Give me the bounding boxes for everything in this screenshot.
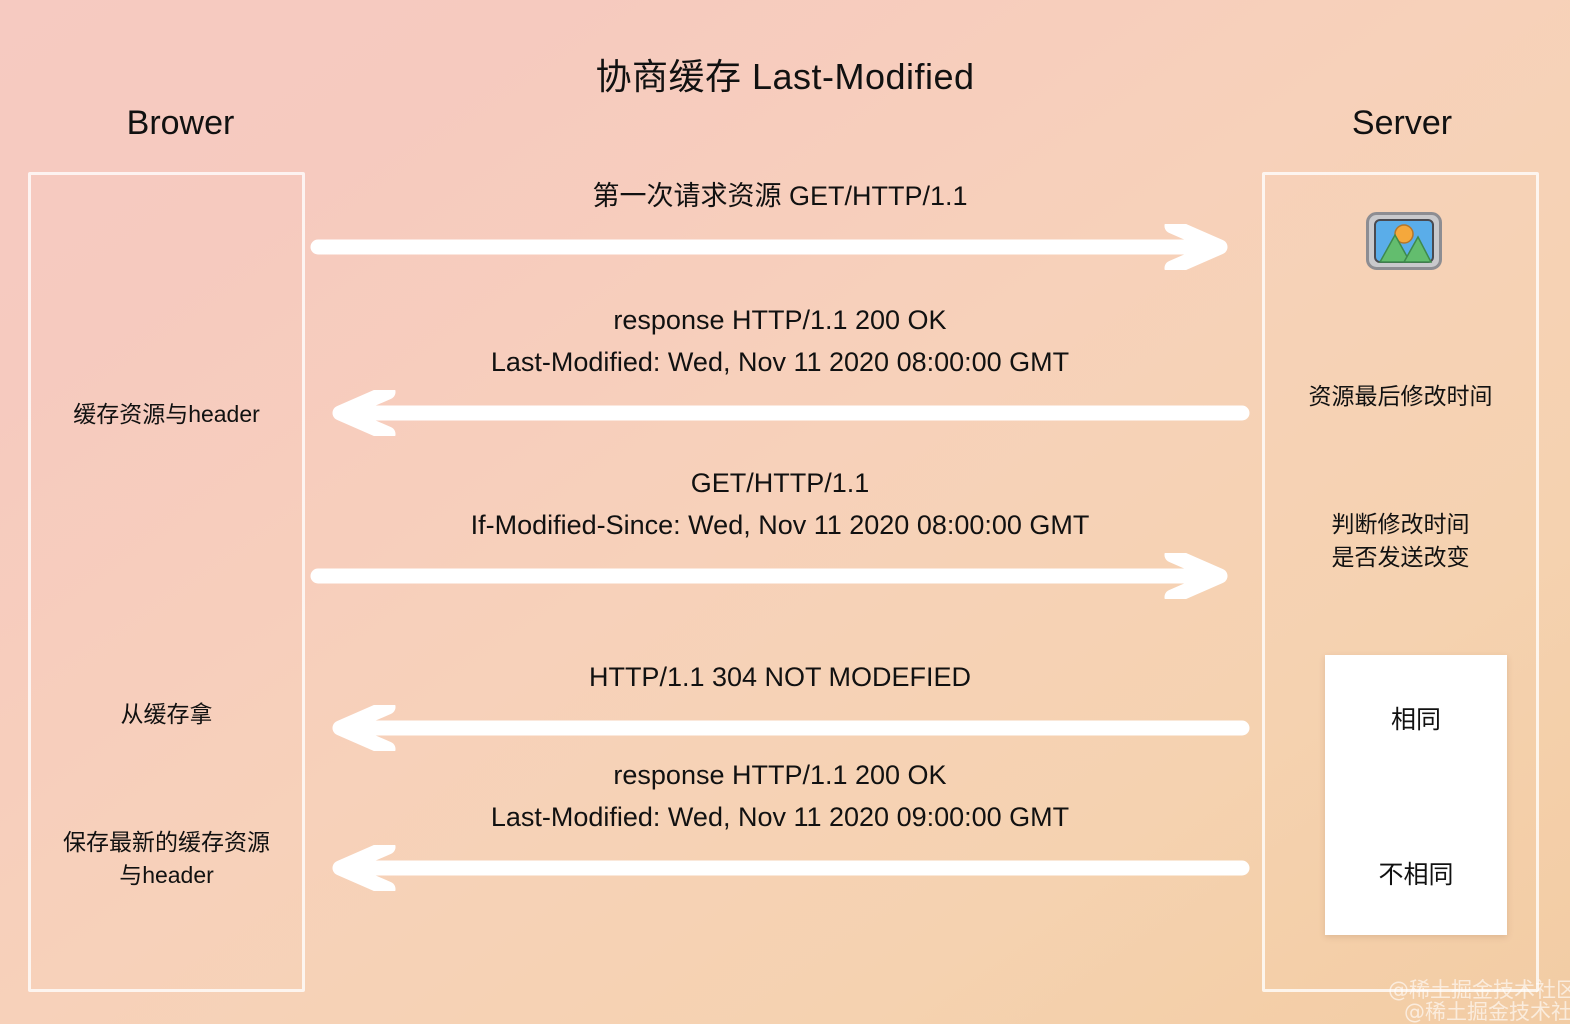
note-take-from-cache: 从缓存拿 (28, 698, 305, 731)
page-title: 协商缓存 Last-Modified (0, 48, 1570, 100)
arrow-left-first-response (310, 390, 1250, 436)
server-column-heading: Server (1262, 104, 1542, 143)
decision-card: 相同 不相同 (1325, 655, 1507, 935)
image-icon (1366, 212, 1442, 270)
decision-not-same-label: 不相同 (1325, 855, 1507, 891)
arrow-left-not-modified-response (310, 705, 1250, 751)
note-cache-resource-header: 缓存资源与header (28, 398, 305, 431)
message-first-response: response HTTP/1.1 200 OK Last-Modified: … (310, 300, 1250, 436)
arrow-right-first-request (310, 224, 1250, 270)
message-conditional-request-line2: If-Modified-Since: Wed, Nov 11 2020 08:0… (310, 505, 1250, 547)
arrow-left-modified-response (310, 845, 1250, 891)
watermark-secondary: @稀土掘金技术社区 (1404, 996, 1570, 1024)
note-judge-modified-time: 判断修改时间 是否发送改变 (1262, 508, 1539, 575)
message-not-modified-response-text: HTTP/1.1 304 NOT MODEFIED (310, 657, 1250, 699)
message-modified-response: response HTTP/1.1 200 OK Last-Modified: … (310, 755, 1250, 891)
message-conditional-request: GET/HTTP/1.1 If-Modified-Since: Wed, Nov… (310, 463, 1250, 599)
note-save-newest-cache: 保存最新的缓存资源 与header (28, 826, 305, 893)
message-first-response-line1: response HTTP/1.1 200 OK (310, 300, 1250, 342)
arrow-right-conditional-request (310, 553, 1250, 599)
message-first-request: 第一次请求资源 GET/HTTP/1.1 (310, 176, 1250, 270)
browser-column-heading: Brower (28, 104, 333, 143)
message-not-modified-response: HTTP/1.1 304 NOT MODEFIED (310, 657, 1250, 751)
message-modified-response-line2: Last-Modified: Wed, Nov 11 2020 09:00:00… (310, 797, 1250, 839)
message-first-response-line2: Last-Modified: Wed, Nov 11 2020 08:00:00… (310, 342, 1250, 384)
decision-same-label: 相同 (1325, 700, 1507, 736)
diagram-canvas: 协商缓存 Last-Modified Brower Server 缓存资源与he… (0, 0, 1570, 1024)
message-conditional-request-line1: GET/HTTP/1.1 (310, 463, 1250, 505)
message-modified-response-line1: response HTTP/1.1 200 OK (310, 755, 1250, 797)
note-last-modified-time: 资源最后修改时间 (1262, 380, 1539, 413)
message-first-request-text: 第一次请求资源 GET/HTTP/1.1 (310, 176, 1250, 218)
